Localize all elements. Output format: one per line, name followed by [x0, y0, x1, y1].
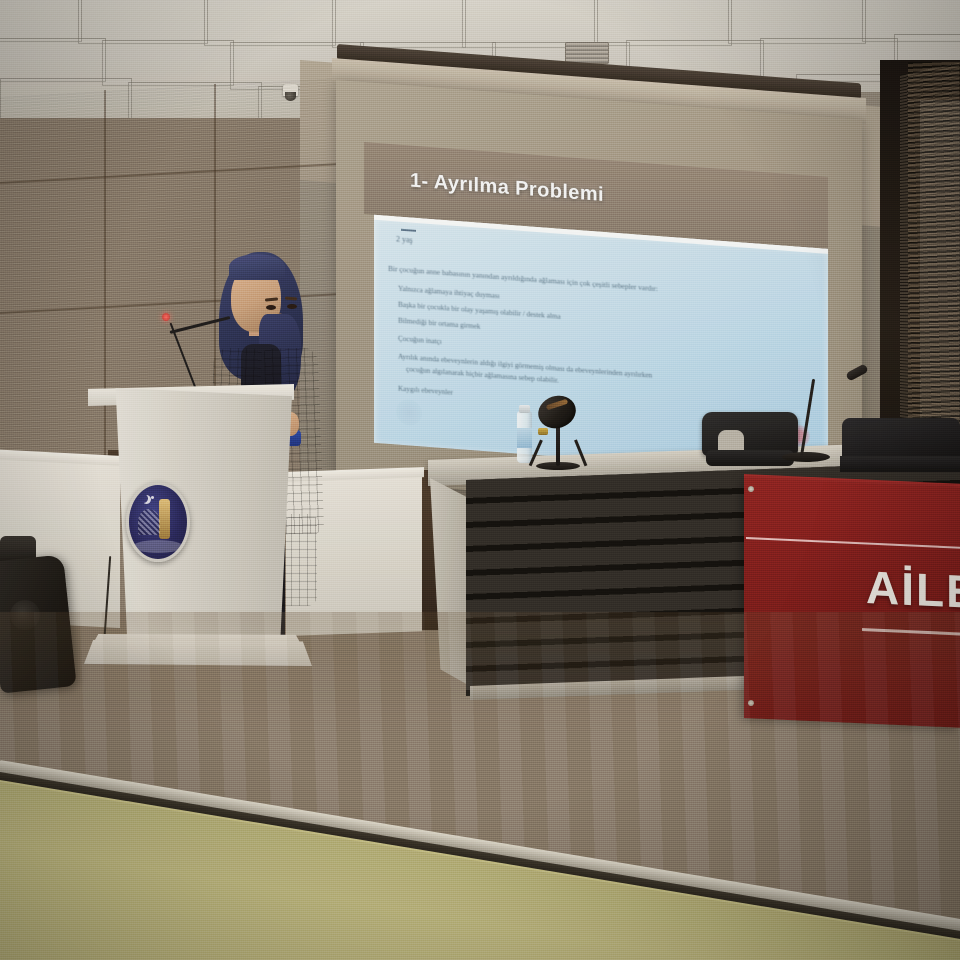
water-bottle-cap [519, 405, 530, 413]
slide-bullet-6: Kaygılı ebeveynler [398, 385, 453, 397]
seal-dome-element [138, 509, 160, 535]
chair-seat [706, 450, 794, 466]
banner-grommet [748, 486, 754, 492]
speaker-eye [287, 304, 297, 309]
star-icon [151, 496, 154, 499]
crescent-icon [139, 494, 148, 503]
slide-age-note: 2 yaş [396, 234, 413, 244]
slide-watermark-logo-icon [396, 398, 422, 426]
podium-microphone-icon [162, 313, 170, 321]
chair-seat [840, 456, 960, 472]
seal-text-band [133, 540, 183, 553]
banner-text: AİLE [866, 560, 960, 619]
speaker-headscarf-front [229, 254, 285, 280]
slide-age-underline [401, 229, 416, 232]
water-bottle-label [517, 428, 532, 448]
seal-gold-element [159, 499, 170, 539]
institutional-seal-icon [126, 482, 190, 562]
mic-clip [538, 428, 548, 435]
speaker-eye [266, 305, 276, 310]
speaker-eyebrow [265, 297, 278, 301]
slide-bullet-4: Çocuğun inatçı [398, 335, 442, 346]
photo-scene: 1- Ayrılma Problemi 2 yaş Bir çocuğun an… [0, 0, 960, 960]
slide-bullet-3: Bilmediği bir ortama girmek [398, 317, 480, 331]
gooseneck-mic-base [782, 452, 830, 462]
mic-stem [556, 424, 560, 466]
slide-bullet-1: Yalnızca ağlamaya ihtiyaç duyması [398, 285, 500, 301]
stage-floor-shadow [0, 612, 960, 732]
